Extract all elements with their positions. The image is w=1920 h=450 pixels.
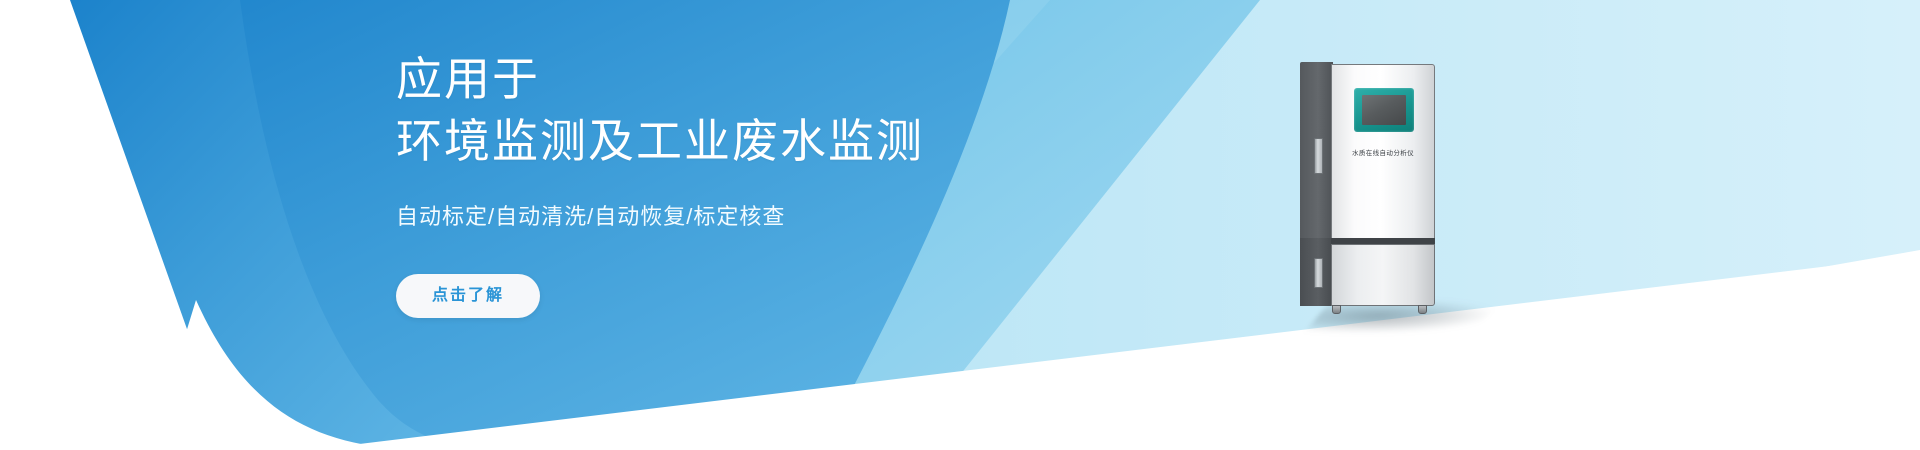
banner-subtitle: 自动标定/自动清洗/自动恢复/标定核查 [396, 202, 1156, 232]
banner-content: 应用于 环境监测及工业废水监测 自动标定/自动清洗/自动恢复/标定核查 点击了解 [396, 48, 1156, 318]
headline-line-2: 环境监测及工业废水监测 [396, 110, 1156, 172]
headline-line-1: 应用于 [396, 48, 1156, 110]
device-caster-right [1418, 305, 1427, 314]
device-caster-left [1332, 305, 1341, 314]
device-display-bezel [1354, 88, 1414, 132]
product-image-water-quality-analyzer: 水质在线自动分析仪 [1300, 62, 1438, 314]
device-handle-upper [1314, 138, 1323, 174]
banner-headline: 应用于 环境监测及工业废水监测 [396, 48, 1156, 172]
device-display-screen [1362, 95, 1406, 125]
hero-banner: 水质在线自动分析仪 应用于 环境监测及工业废水监测 自动标定/自动清洗/自动恢复… [0, 0, 1920, 450]
device-label: 水质在线自动分析仪 [1331, 147, 1435, 157]
learn-more-button[interactable]: 点击了解 [396, 274, 540, 318]
device-lower-door [1331, 244, 1435, 306]
device-handle-lower [1314, 258, 1323, 288]
